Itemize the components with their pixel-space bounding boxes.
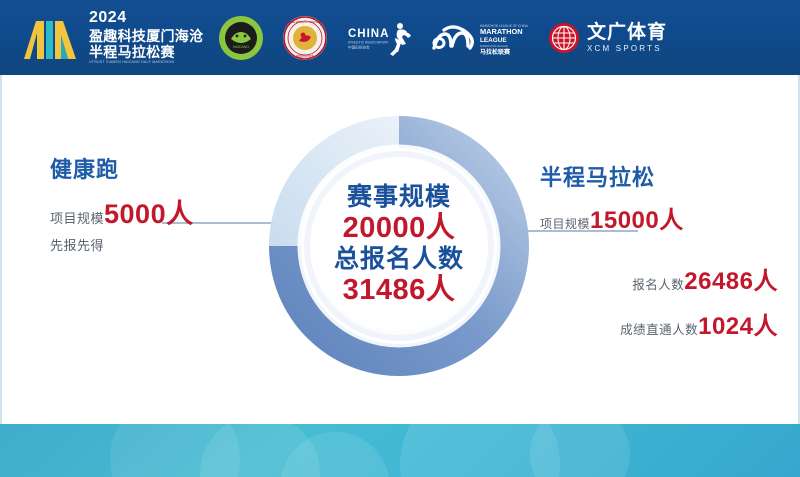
event-title-en: UTRUST XIAMEN HAICANG HALF MARATHON (89, 61, 203, 65)
xcm-name-en: XCM SPORTS (587, 45, 667, 53)
health-run-size-row: 项目规模 5000人 (50, 192, 240, 231)
half-marathon-size-label: 项目规模 (540, 215, 590, 232)
total-registered-value: 31486人 (343, 275, 456, 306)
svg-text:CHINA: CHINA (348, 28, 389, 40)
svg-text:MARATHON: MARATHON (480, 27, 523, 36)
event-branding: 2024 盈趣科技厦门海沧 半程马拉松赛 UTRUST XIAMEN HAICA… (22, 0, 203, 75)
event-title-line2: 半程马拉松赛 (89, 45, 203, 59)
circular-green-emblem-icon: HAICANG (218, 15, 264, 61)
registered-count-value: 26486人 (684, 261, 778, 296)
svg-text:马拉松联赛: 马拉松联赛 (480, 48, 511, 56)
decorative-bubble (530, 424, 630, 477)
sponsor-logo-row: HAICANG CHINESE ATHLETIC ASSOCIATION 中国田… (218, 0, 667, 75)
xcm-red-badge-icon (548, 22, 580, 54)
half-marathon-size-value: 15000人 (590, 200, 684, 235)
total-registered-label: 总报名人数 (334, 246, 464, 273)
direct-entry-value: 1024人 (698, 306, 778, 341)
svg-text:MARATHON LEAGUE: MARATHON LEAGUE (480, 44, 508, 48)
half-marathon-size-row: 项目规模 15000人 (540, 200, 770, 235)
donut-center-summary: 赛事规模 20000人 总报名人数 31486人 (268, 115, 530, 377)
svg-text:LEAGUE: LEAGUE (480, 37, 507, 44)
direct-entry-label: 成绩直通人数 (620, 319, 698, 338)
registered-count-label: 报名人数 (632, 274, 684, 293)
footer-decorative-strip (0, 424, 800, 477)
marathon-m-logo-icon (22, 15, 80, 61)
running-figure-icon: CHINA ATHLETIC ASSOCIATION 中国田径协会 (346, 18, 412, 58)
half-marathon-heading: 半程马拉松 (540, 160, 770, 192)
xcm-sports-wordmark: 文广体育 XCM SPORTS (587, 23, 667, 53)
svg-text:中国田径协会: 中国田径协会 (348, 44, 370, 49)
stat-row-registered: 报名人数 26486人 (538, 261, 778, 296)
header-bar: 2024 盈趣科技厦门海沧 半程马拉松赛 UTRUST XIAMEN HAICA… (0, 0, 800, 75)
health-run-note: 先报先得 (50, 235, 240, 254)
event-title-line1: 盈趣科技厦门海沧 (89, 29, 203, 43)
event-year: 2024 (89, 10, 203, 26)
decorative-overlay (0, 424, 420, 477)
event-scale-label: 赛事规模 (347, 184, 451, 211)
stat-row-direct-entry: 成绩直通人数 1024人 (538, 306, 778, 341)
health-run-size-value: 5000人 (104, 192, 194, 231)
xcm-name-cn: 文广体育 (587, 23, 667, 42)
health-run-size-label: 项目规模 (50, 208, 104, 227)
xcm-sports-logo: 文广体育 XCM SPORTS (548, 18, 667, 58)
callout-half-marathon: 半程马拉松 项目规模 15000人 (540, 160, 770, 235)
event-scale-value: 20000人 (343, 213, 456, 244)
slide-canvas: 2024 盈趣科技厦门海沧 半程马拉松赛 UTRUST XIAMEN HAICA… (0, 0, 800, 477)
svg-text:CHINESE ATHLETIC ASSOCIATION: CHINESE ATHLETIC ASSOCIATION (284, 20, 327, 24)
health-run-heading: 健康跑 (50, 152, 240, 184)
svg-text:HAICANG: HAICANG (233, 45, 250, 49)
svg-text:中国田径协会: 中国田径协会 (296, 53, 314, 58)
event-title: 2024 盈趣科技厦门海沧 半程马拉松赛 UTRUST XIAMEN HAICA… (89, 10, 203, 65)
circular-red-seal-icon: CHINESE ATHLETIC ASSOCIATION 中国田径协会 (282, 15, 328, 61)
marathon-league-icon: MARATHON LEAGUE OF CHINA MARATHON LEAGUE… (430, 18, 530, 58)
half-marathon-stats: 报名人数 26486人 成绩直通人数 1024人 (538, 261, 778, 351)
callout-health-run: 健康跑 项目规模 5000人 先报先得 (50, 152, 240, 254)
svg-text:ATHLETIC ASSOCIATION: ATHLETIC ASSOCIATION (348, 40, 388, 44)
content-area: 赛事规模 20000人 总报名人数 31486人 健康跑 项目规模 5000人 … (0, 75, 800, 424)
